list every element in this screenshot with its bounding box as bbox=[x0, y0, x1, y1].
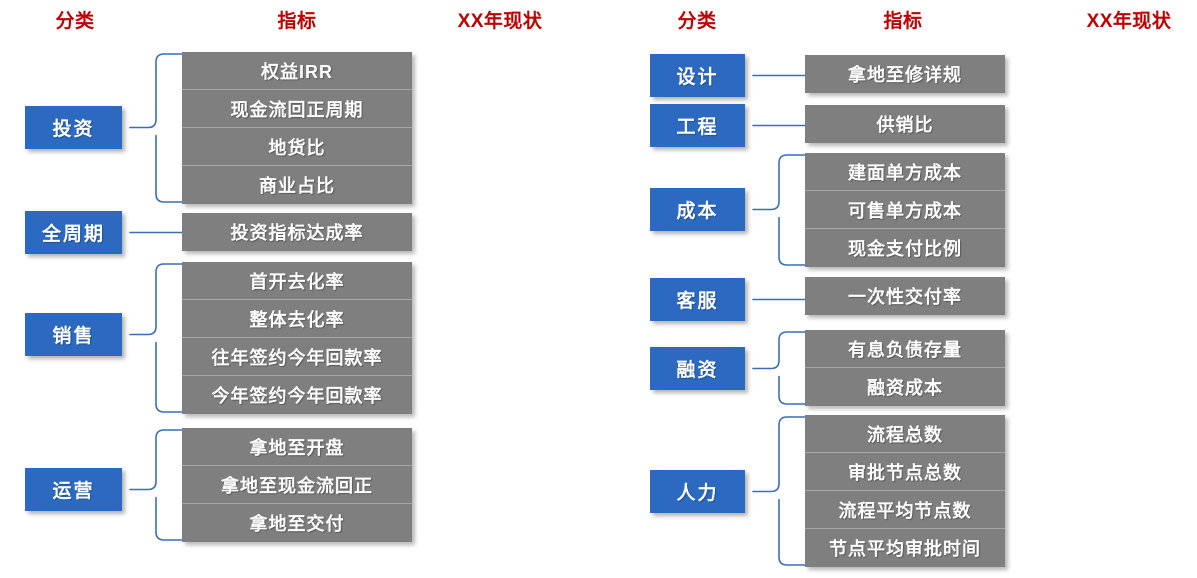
category-chip[interactable]: 融资 bbox=[650, 347, 745, 390]
metric-row[interactable]: 往年签约今年回款率 bbox=[182, 338, 412, 376]
column-header: 指标 bbox=[883, 6, 922, 33]
column-header: 分类 bbox=[55, 6, 94, 33]
brace-connector bbox=[0, 0, 1197, 578]
metric-row[interactable]: 今年签约今年回款率 bbox=[182, 376, 412, 414]
category-chip[interactable]: 投资 bbox=[25, 106, 122, 149]
metric-row[interactable]: 拿地至现金流回正 bbox=[182, 466, 412, 504]
metric-stack: 拿地至修详规 bbox=[805, 55, 1005, 93]
metric-row[interactable]: 流程平均节点数 bbox=[805, 491, 1005, 529]
metric-stack: 流程总数审批节点总数流程平均节点数节点平均审批时间 bbox=[805, 415, 1005, 567]
column-header: XX年现状 bbox=[1087, 6, 1172, 33]
metric-row[interactable]: 建面单方成本 bbox=[805, 153, 1005, 191]
metric-row[interactable]: 权益IRR bbox=[182, 52, 412, 90]
metric-stack: 供销比 bbox=[805, 105, 1005, 143]
metric-row[interactable]: 地货比 bbox=[182, 128, 412, 166]
metric-row[interactable]: 整体去化率 bbox=[182, 300, 412, 338]
column-header: 指标 bbox=[277, 6, 316, 33]
brace-connector bbox=[0, 0, 1197, 578]
column-header: XX年现状 bbox=[458, 6, 543, 33]
brace-connector bbox=[0, 0, 1197, 578]
metric-row[interactable]: 拿地至修详规 bbox=[805, 55, 1005, 93]
line-connector bbox=[0, 0, 1197, 578]
metric-row[interactable]: 审批节点总数 bbox=[805, 453, 1005, 491]
category-chip[interactable]: 全周期 bbox=[25, 211, 122, 254]
metric-row[interactable]: 融资成本 bbox=[805, 368, 1005, 406]
category-chip[interactable]: 人力 bbox=[650, 470, 745, 513]
brace-connector bbox=[0, 0, 1197, 578]
category-chip[interactable]: 客服 bbox=[650, 278, 745, 321]
metric-row[interactable]: 一次性交付率 bbox=[805, 277, 1005, 315]
metric-row[interactable]: 可售单方成本 bbox=[805, 191, 1005, 229]
line-connector bbox=[0, 0, 1197, 578]
column-header: 分类 bbox=[677, 6, 716, 33]
metric-row[interactable]: 供销比 bbox=[805, 105, 1005, 143]
metric-row[interactable]: 拿地至交付 bbox=[182, 504, 412, 542]
metric-row[interactable]: 流程总数 bbox=[805, 415, 1005, 453]
metric-row[interactable]: 首开去化率 bbox=[182, 262, 412, 300]
metric-stack: 拿地至开盘拿地至现金流回正拿地至交付 bbox=[182, 428, 412, 542]
category-chip[interactable]: 运营 bbox=[25, 468, 122, 511]
metric-stack: 权益IRR现金流回正周期地货比商业占比 bbox=[182, 52, 412, 204]
metric-stack: 建面单方成本可售单方成本现金支付比例 bbox=[805, 153, 1005, 267]
brace-connector bbox=[0, 0, 1197, 578]
metric-row[interactable]: 现金支付比例 bbox=[805, 229, 1005, 267]
category-chip[interactable]: 工程 bbox=[650, 104, 745, 147]
category-chip[interactable]: 成本 bbox=[650, 188, 745, 231]
metric-row[interactable]: 拿地至开盘 bbox=[182, 428, 412, 466]
metric-stack: 一次性交付率 bbox=[805, 277, 1005, 315]
category-chip[interactable]: 销售 bbox=[25, 313, 122, 356]
metric-stack: 投资指标达成率 bbox=[182, 213, 412, 251]
metric-row[interactable]: 现金流回正周期 bbox=[182, 90, 412, 128]
diagram-canvas: 分类指标XX年现状分类指标XX年现状 投资权益IRR现金流回正周期地货比商业占比… bbox=[0, 0, 1197, 578]
metric-row[interactable]: 投资指标达成率 bbox=[182, 213, 412, 251]
line-connector bbox=[0, 0, 1197, 578]
metric-stack: 有息负债存量融资成本 bbox=[805, 330, 1005, 406]
metric-row[interactable]: 商业占比 bbox=[182, 166, 412, 204]
metric-row[interactable]: 有息负债存量 bbox=[805, 330, 1005, 368]
metric-row[interactable]: 节点平均审批时间 bbox=[805, 529, 1005, 567]
line-connector bbox=[0, 0, 1197, 578]
category-chip[interactable]: 设计 bbox=[650, 54, 745, 97]
metric-stack: 首开去化率整体去化率往年签约今年回款率今年签约今年回款率 bbox=[182, 262, 412, 414]
brace-connector bbox=[0, 0, 1197, 578]
